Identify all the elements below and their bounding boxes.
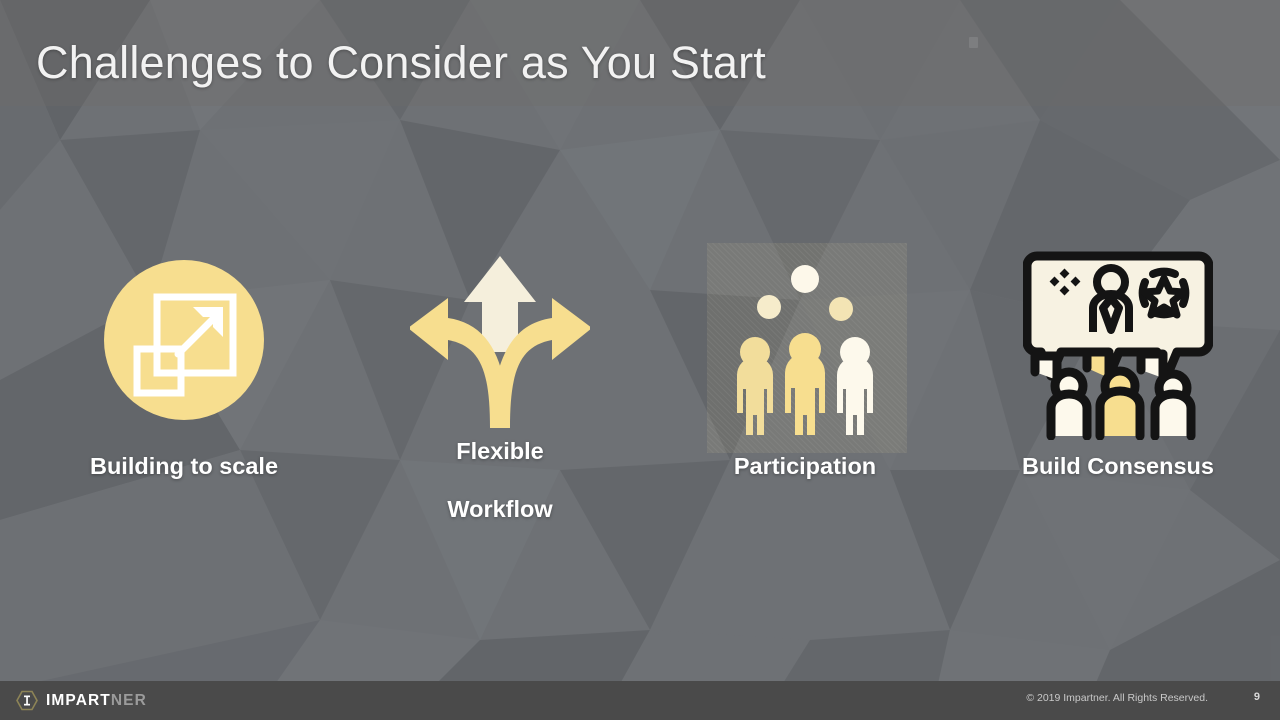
brand-logo-text-bright: IMPART [46, 692, 111, 709]
hexagon-i-icon [16, 690, 38, 711]
building-to-scale-icon-area [34, 240, 334, 440]
challenge-label-flexible-workflow: Flexible Workflow [350, 422, 650, 538]
challenge-item-participation[interactable]: Participation [655, 240, 955, 570]
copyright-text: © 2019 Impartner. All Rights Reserved. [1026, 692, 1208, 704]
challenge-label-build-consensus: Build Consensus [968, 452, 1268, 481]
three-people-with-dots-icon [715, 245, 895, 435]
brand-logo: IMPARTNER [16, 690, 147, 711]
challenge-columns: Building to scale Flexible Workflow [0, 240, 1280, 570]
consensus-speech-bubble-icon [1023, 240, 1213, 440]
build-consensus-icon-area [968, 240, 1268, 440]
challenge-item-flexible-workflow[interactable]: Flexible Workflow [350, 240, 650, 570]
challenge-item-building-to-scale[interactable]: Building to scale [34, 240, 334, 570]
presentation-slide: Challenges to Consider as You Start [0, 0, 1280, 720]
page-number: 9 [1254, 691, 1260, 703]
flexible-workflow-icon-area [350, 240, 650, 440]
page-title: Challenges to Consider as You Start [36, 34, 766, 92]
brand-logo-text: IMPARTNER [46, 692, 147, 710]
brand-logo-text-dim: NER [111, 692, 147, 709]
flexible-workflow-line-2: Workflow [350, 480, 650, 538]
participation-icon-area [655, 240, 955, 440]
challenge-item-build-consensus[interactable]: Build Consensus [968, 240, 1268, 570]
challenge-label-participation: Participation [655, 452, 955, 481]
expand-scale-icon [101, 257, 267, 423]
three-way-arrow-icon [410, 250, 590, 430]
challenge-label-building-to-scale: Building to scale [34, 452, 334, 481]
flexible-workflow-line-1: Flexible [350, 422, 650, 480]
